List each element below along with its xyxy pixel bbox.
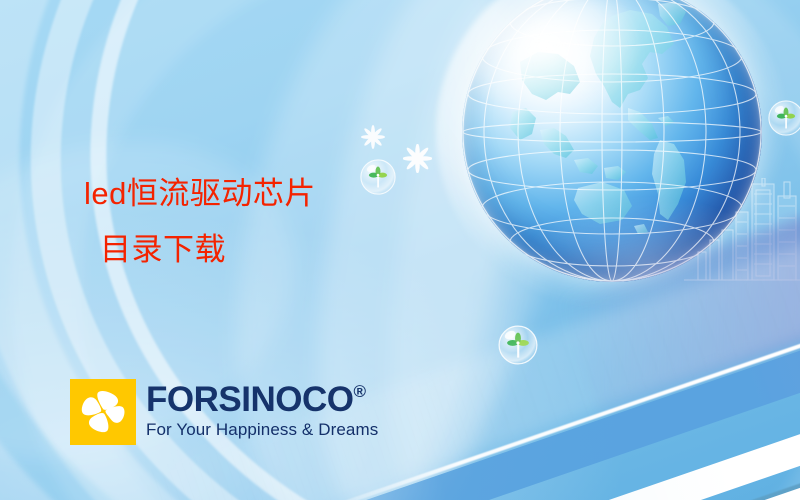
logo-wordmark: FORSINOCO ® [146,381,378,419]
city-skyline-icon [684,178,800,296]
registered-trademark-icon: ® [353,383,365,400]
headline-line-1: led恒流驱动芯片 [84,166,414,222]
logo-text-group: FORSINOCO ® For Your Happiness & Dreams [146,379,378,440]
bubble-windmill-icon [497,324,539,366]
logo-brand-name: FORSINOCO [146,381,353,419]
bubble-windmill-icon [767,99,800,137]
flower-decoration-icon [361,125,385,149]
logo-mark [70,379,136,445]
four-petal-pinwheel-icon [70,379,136,445]
logo-tagline: For Your Happiness & Dreams [146,420,378,440]
brand-logo[interactable]: FORSINOCO ® For Your Happiness & Dreams [70,379,378,445]
banner-canvas: led恒流驱动芯片 目录下载 FORSINOCO ® For Your Happ… [0,0,800,500]
headline-text: led恒流驱动芯片 目录下载 [84,166,414,278]
headline-line-2: 目录下载 [84,222,414,278]
